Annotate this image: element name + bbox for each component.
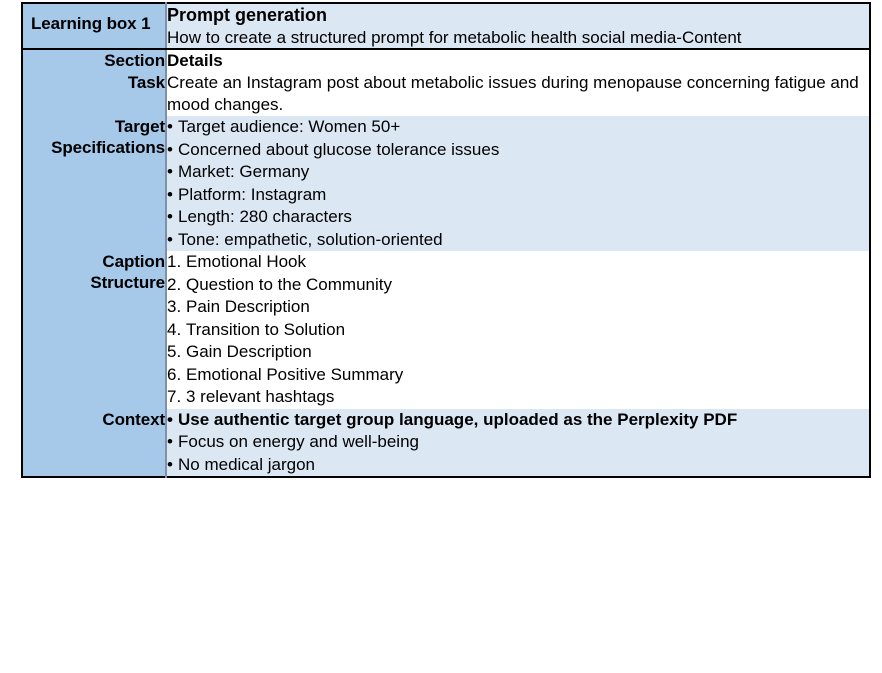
caption-structure-list: 1.Emotional Hook 2.Question to the Commu… <box>167 251 869 409</box>
list-item-text: Pain Description <box>186 297 310 316</box>
list-number: 1. <box>167 251 186 274</box>
row-label-context: Context <box>22 409 166 478</box>
list-item: 5.Gain Description <box>167 341 869 364</box>
list-item-text: Tone: empathetic, solution-oriented <box>178 230 443 249</box>
list-item-text: Use authentic target group language, upl… <box>178 410 737 429</box>
list-item-text: Length: 280 characters <box>178 207 352 226</box>
page-subtitle: How to create a structured prompt for me… <box>167 27 869 48</box>
bullet-icon: • <box>167 116 178 139</box>
list-number: 2. <box>167 274 186 297</box>
list-item-text: No medical jargon <box>178 455 315 474</box>
list-item-text: Target audience: Women 50+ <box>178 117 400 136</box>
list-item-text: Focus on energy and well-being <box>178 432 419 451</box>
bullet-icon: • <box>167 409 178 432</box>
list-item: •No medical jargon <box>167 454 869 477</box>
list-item-text: Transition to Solution <box>186 320 345 339</box>
row-label-caption-line2: Structure <box>23 272 165 293</box>
target-specifications-list: •Target audience: Women 50+ •Concerned a… <box>167 116 869 251</box>
row-label-target-line1: Target <box>23 116 165 137</box>
row-label-target-line2: Specifications <box>23 137 165 158</box>
bullet-icon: • <box>167 139 178 162</box>
table-row-caption-structure: Caption Structure 1.Emotional Hook 2.Que… <box>22 251 870 409</box>
bullet-icon: • <box>167 431 178 454</box>
list-item: 3.Pain Description <box>167 296 869 319</box>
list-item-text: Concerned about glucose tolerance issues <box>178 140 499 159</box>
list-number: 3. <box>167 296 186 319</box>
list-item-text: Platform: Instagram <box>178 185 326 204</box>
list-item: 6.Emotional Positive Summary <box>167 364 869 387</box>
learning-box-label: Learning box 1 <box>22 3 166 49</box>
column-header-details-cell: Details <box>166 49 870 72</box>
bullet-icon: • <box>167 161 178 184</box>
list-number: 4. <box>167 319 186 342</box>
list-item-text: Question to the Community <box>186 275 392 294</box>
list-number: 6. <box>167 364 186 387</box>
table-row-header: Learning box 1 Prompt generation How to … <box>22 3 870 49</box>
list-item: •Length: 280 characters <box>167 206 869 229</box>
column-header-details: Details <box>167 51 223 70</box>
bullet-icon: • <box>167 454 178 477</box>
list-item-text: Emotional Hook <box>186 252 306 271</box>
row-label-task: Task <box>22 72 166 116</box>
list-item: •Tone: empathetic, solution-oriented <box>167 229 869 252</box>
row-content-context: •Use authentic target group language, up… <box>166 409 870 478</box>
list-item-text: Gain Description <box>186 342 312 361</box>
list-item: •Platform: Instagram <box>167 184 869 207</box>
list-item: •Market: Germany <box>167 161 869 184</box>
list-number: 7. <box>167 386 186 409</box>
list-item: •Focus on energy and well-being <box>167 431 869 454</box>
table-row-target-specifications: Target Specifications •Target audience: … <box>22 116 870 251</box>
bullet-icon: • <box>167 206 178 229</box>
row-content-caption-structure: 1.Emotional Hook 2.Question to the Commu… <box>166 251 870 409</box>
table-row-task: Task Create an Instagram post about meta… <box>22 72 870 116</box>
row-content-task: Create an Instagram post about metabolic… <box>166 72 870 116</box>
list-item: •Target audience: Women 50+ <box>167 116 869 139</box>
table-row-context: Context •Use authentic target group lang… <box>22 409 870 478</box>
header-detail-cell: Prompt generation How to create a struct… <box>166 3 870 49</box>
list-item: 7.3 relevant hashtags <box>167 386 869 409</box>
row-label-caption-structure: Caption Structure <box>22 251 166 409</box>
list-item: •Concerned about glucose tolerance issue… <box>167 139 869 162</box>
list-item: 2.Question to the Community <box>167 274 869 297</box>
bullet-icon: • <box>167 184 178 207</box>
learning-box-table: Learning box 1 Prompt generation How to … <box>21 2 871 478</box>
list-number: 5. <box>167 341 186 364</box>
page-title: Prompt generation <box>167 4 869 26</box>
list-item-text: 3 relevant hashtags <box>186 387 334 406</box>
list-item: 1.Emotional Hook <box>167 251 869 274</box>
context-list: •Use authentic target group language, up… <box>167 409 869 477</box>
task-text: Create an Instagram post about metabolic… <box>167 72 869 116</box>
list-item: 4.Transition to Solution <box>167 319 869 342</box>
row-label-caption-line1: Caption <box>23 251 165 272</box>
row-content-target-specifications: •Target audience: Women 50+ •Concerned a… <box>166 116 870 251</box>
table-row-column-headers: Section Details <box>22 49 870 72</box>
list-item: •Use authentic target group language, up… <box>167 409 869 432</box>
list-item-text: Market: Germany <box>178 162 309 181</box>
learning-box-page: Learning box 1 Prompt generation How to … <box>0 0 882 673</box>
list-item-text: Emotional Positive Summary <box>186 365 403 384</box>
row-label-target-specifications: Target Specifications <box>22 116 166 251</box>
bullet-icon: • <box>167 229 178 252</box>
column-header-section: Section <box>22 49 166 72</box>
